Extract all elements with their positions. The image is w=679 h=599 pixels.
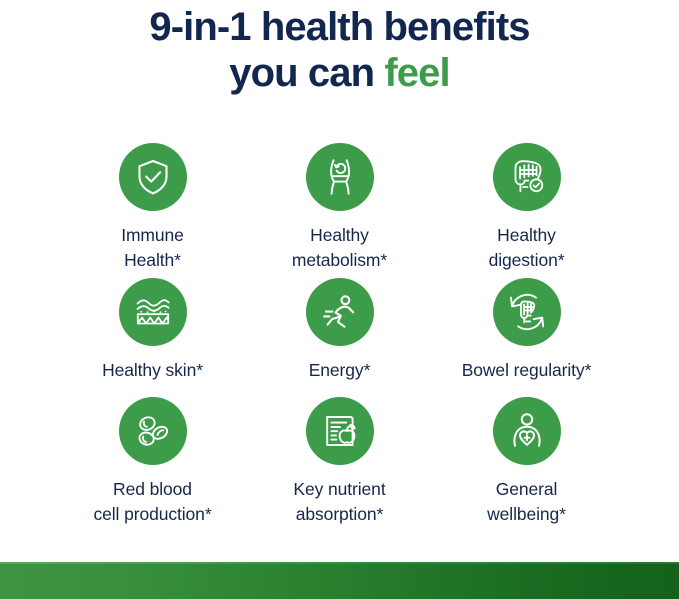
- benefit-label: Red blood cell production*: [93, 477, 211, 527]
- body-metabolism-icon: [320, 157, 360, 197]
- benefit-item-energy: Energy*: [246, 278, 433, 397]
- benefit-item-key-nutrient-absorption: Key nutrient absorption*: [246, 397, 433, 532]
- clipboard-apple-icon: [320, 411, 360, 451]
- benefit-icon-badge: [493, 397, 561, 465]
- intestine-cycle-icon: [506, 291, 548, 333]
- running-person-icon: [320, 292, 360, 332]
- benefit-icon-badge: [119, 397, 187, 465]
- benefit-label: Energy*: [309, 358, 371, 383]
- benefit-label: Healthy skin*: [102, 358, 203, 383]
- benefit-icon-badge: [119, 143, 187, 211]
- benefit-icon-badge: [306, 397, 374, 465]
- benefit-icon-badge: [493, 278, 561, 346]
- shield-check-icon: [133, 157, 173, 197]
- benefit-label: General wellbeing*: [487, 477, 566, 527]
- benefit-item-bowel-regularity: Bowel regularity*: [433, 278, 620, 397]
- page-title-line-2: you can feel: [0, 50, 679, 96]
- benefit-label: Immune Health*: [121, 223, 184, 273]
- benefit-icon-badge: [493, 143, 561, 211]
- page-title-line-2-prefix: you can: [229, 51, 384, 95]
- benefit-label: Bowel regularity*: [462, 358, 592, 383]
- page-title-line-1: 9-in-1 health benefits: [0, 4, 679, 50]
- person-heart-cross-icon: [507, 411, 547, 451]
- page-title: 9-in-1 health benefits you can feel: [0, 4, 679, 97]
- benefit-item-red-blood-cell-production: Red blood cell production*: [59, 397, 246, 532]
- benefit-item-immune-health: Immune Health*: [59, 143, 246, 278]
- page-title-accent-word: feel: [384, 51, 449, 95]
- blood-cells-icon: [133, 411, 173, 451]
- bottom-brand-bar-highlight: [0, 562, 679, 564]
- benefits-grid: Immune Health* Healt: [59, 143, 620, 532]
- benefit-item-healthy-digestion: Healthy digestion*: [433, 143, 620, 278]
- benefit-icon-badge: [306, 278, 374, 346]
- benefit-label: Key nutrient absorption*: [293, 477, 385, 527]
- benefit-item-healthy-metabolism: Healthy metabolism*: [246, 143, 433, 278]
- skin-layers-icon: [133, 292, 173, 332]
- benefit-item-general-wellbeing: General wellbeing*: [433, 397, 620, 532]
- benefit-label: Healthy digestion*: [489, 223, 565, 273]
- benefit-label: Healthy metabolism*: [292, 223, 387, 273]
- intestines-check-icon: [507, 157, 547, 197]
- benefit-icon-badge: [119, 278, 187, 346]
- benefits-infographic: 9-in-1 health benefits you can feel Immu…: [0, 0, 679, 599]
- benefit-icon-badge: [306, 143, 374, 211]
- benefit-item-healthy-skin: Healthy skin*: [59, 278, 246, 397]
- bottom-brand-bar: [0, 562, 679, 599]
